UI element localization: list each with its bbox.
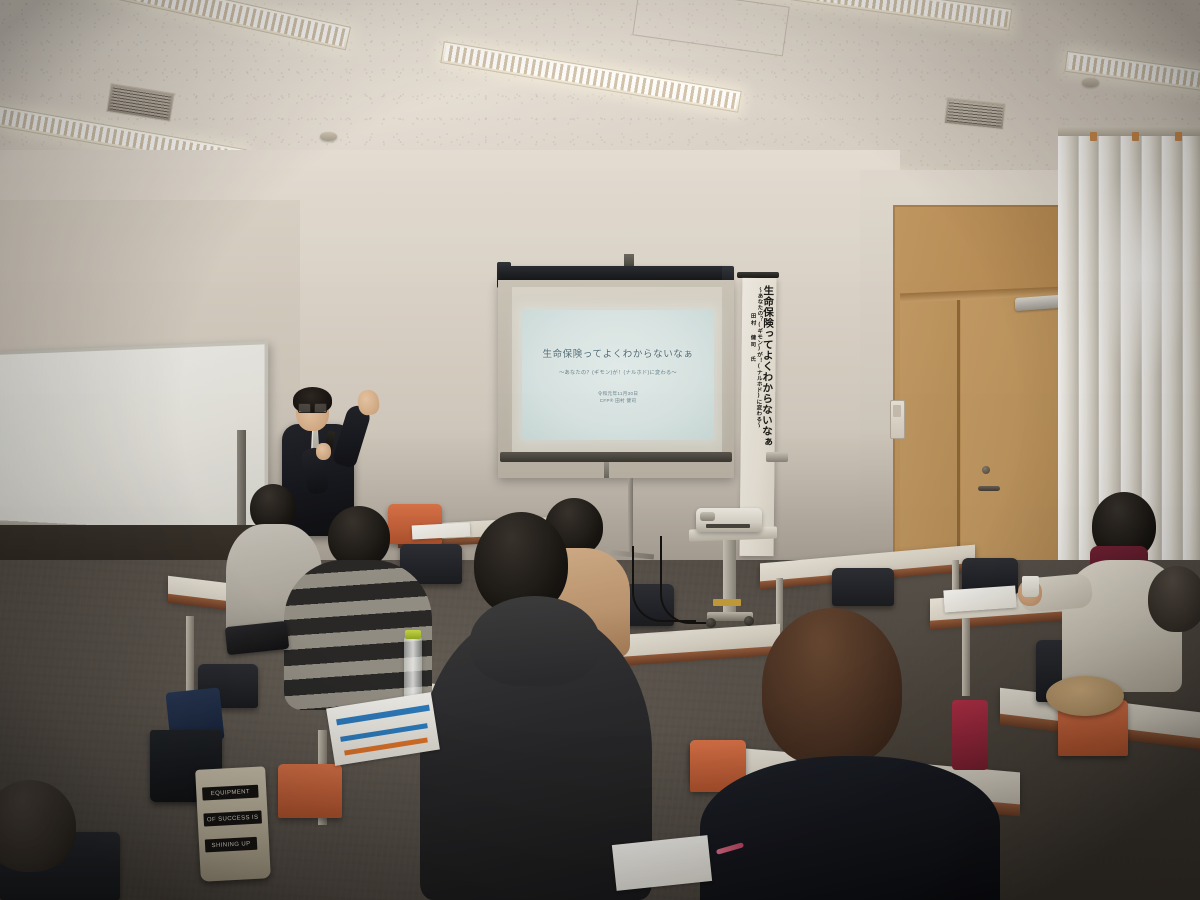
whiteboard-side-edge — [237, 430, 246, 525]
door-lock-icon[interactable] — [982, 466, 990, 474]
head — [762, 608, 902, 766]
desk-leg — [962, 618, 970, 696]
glasses-lens-left — [298, 403, 311, 413]
slide-presenter: CFP® 田村 健司 — [600, 397, 637, 404]
red-strap-item — [952, 700, 988, 770]
glasses-lens-right — [314, 403, 327, 413]
projector-control-panel[interactable] — [706, 524, 750, 528]
dark-coat-torso — [700, 756, 1000, 900]
projector-power-cable — [632, 546, 696, 622]
blind-clip — [1175, 132, 1182, 141]
cart-caster — [706, 618, 716, 628]
banner-clip — [766, 452, 788, 462]
paper-cup[interactable] — [1022, 576, 1039, 597]
speaker-mic-hand — [316, 443, 331, 460]
whiteboard[interactable] — [0, 341, 268, 549]
hoodie-hood — [470, 596, 600, 686]
smoke-detector-1 — [320, 132, 337, 141]
canvas-tote-bag[interactable]: EQUIPMENT OF SUCCESS IS SHINING UP — [195, 766, 271, 882]
tote-text-line-1: EQUIPMENT — [202, 785, 259, 801]
door-leaf-right[interactable] — [961, 298, 1065, 600]
blind-slat — [1162, 130, 1182, 600]
banner-title: 生命保険ってよくわからないなぁ — [761, 285, 773, 447]
blind-clip — [1090, 132, 1097, 141]
head — [1148, 566, 1200, 632]
slide-date: 令和元年11月30日 — [598, 390, 638, 397]
screen-tripod-leg — [628, 478, 633, 556]
tote-text-line-2: OF SUCCESS IS — [203, 810, 262, 826]
blind-slat — [1183, 130, 1200, 600]
banner-presenter: 田村 健司 氏 — [749, 313, 755, 363]
tote-text-line-3: SHINING UP — [205, 837, 258, 853]
blind-clip — [1132, 132, 1139, 141]
screen-bottom-bar[interactable] — [500, 452, 732, 462]
tan-hat-on-chair[interactable] — [1046, 676, 1124, 716]
seminar-room-photo: 生命保険ってよくわからないなぁ ～あなたの？(ギモン)が！(ナルホド)に変わる～… — [0, 0, 1200, 900]
door-handle[interactable] — [978, 486, 1000, 491]
projector-lens — [700, 512, 715, 521]
projector-cart-post — [723, 540, 736, 618]
projected-slide: 生命保険ってよくわからないなぁ ～あなたの？(ギモン)が！(ナルホド)に変わる～… — [522, 310, 714, 440]
blind-slat — [1058, 130, 1078, 600]
slide-subtitle: ～あなたの？(ギモン)が！(ナルホド)に変わる～ — [559, 369, 677, 376]
screen-pull-cord[interactable] — [604, 462, 609, 478]
bottle-cap — [405, 630, 421, 639]
light-switch-plate[interactable] — [890, 400, 905, 439]
chair-orange-mid[interactable] — [278, 764, 342, 818]
slide-title: 生命保険ってよくわからないなぁ — [542, 346, 693, 360]
glasses-icon — [298, 403, 326, 411]
cart-caster — [744, 616, 754, 626]
head — [328, 506, 390, 568]
chair-dark-2[interactable] — [832, 568, 894, 606]
projector-cart-label — [713, 599, 741, 606]
smoke-detector-2 — [1082, 78, 1099, 87]
